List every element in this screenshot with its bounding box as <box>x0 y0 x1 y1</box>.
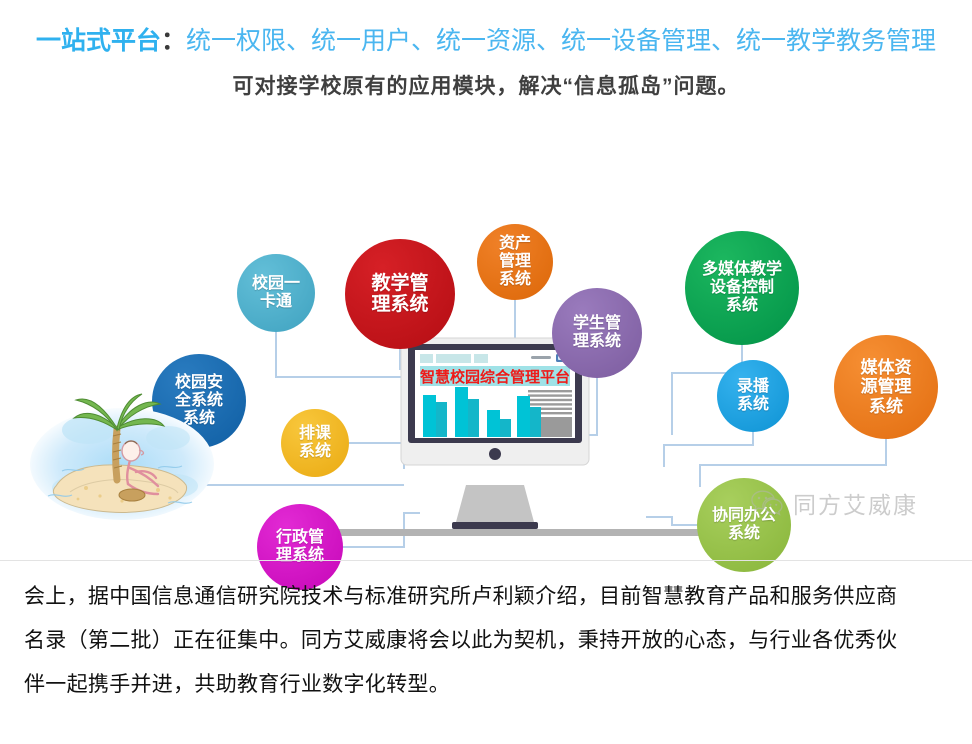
bubble-label-asset-mgmt: 资产管理系统 <box>495 235 535 289</box>
article-paragraph: 会上，据中国信息通信研究院技术与标准研究所卢利颖介绍，目前智慧教育产品和服务供应… <box>24 574 954 706</box>
bubble-label-multimedia-control: 多媒体教学设备控制系统 <box>698 261 786 315</box>
bubble-multimedia-control[interactable]: 多媒体教学设备控制系统 <box>685 231 799 345</box>
bubble-label-student-mgmt: 学生管理系统 <box>569 315 625 351</box>
paragraph-line-2: 名录（第二批）正在征集中。同方艾威康将会以此为契机，秉持开放的心态，与行业各优秀… <box>24 618 954 662</box>
screen-title-text: 智慧校园综合管理平台 <box>420 366 570 387</box>
bubble-recording-system[interactable]: 录播系统 <box>717 360 789 432</box>
headline-subline: 可对接学校原有的应用模块，解决“信息孤岛”问题。 <box>0 70 972 100</box>
headline-keyword: 一站式平台 <box>36 27 161 55</box>
bubble-course-schedule[interactable]: 排课系统 <box>281 409 349 477</box>
screen-title: 智慧校园综合管理平台 <box>420 366 570 386</box>
paragraph-line-1: 会上，据中国信息通信研究院技术与标准研究所卢利颖介绍，目前智慧教育产品和服务供应… <box>24 574 954 618</box>
bubble-campus-card[interactable]: 校园一卡通 <box>237 254 315 332</box>
brand-watermark: 同方艾威康 <box>750 486 918 520</box>
wechat-icon <box>750 489 784 517</box>
headline-primary: 一站式平台：统一权限、统一用户、统一资源、统一设备管理、统一教学教务管理 <box>0 26 972 56</box>
bubble-student-mgmt[interactable]: 学生管理系统 <box>552 288 642 378</box>
bubble-label-recording-system: 录播系统 <box>733 378 773 414</box>
headline-block: 一站式平台：统一权限、统一用户、统一资源、统一设备管理、统一教学教务管理 可对接… <box>0 26 972 100</box>
paragraph-line-3: 伴一起携手并进，共助教育行业数字化转型。 <box>24 662 954 706</box>
bubble-asset-mgmt[interactable]: 资产管理系统 <box>477 224 553 300</box>
bubble-label-campus-card: 校园一卡通 <box>248 275 304 311</box>
bubble-label-media-resource: 媒体资源管理系统 <box>857 358 916 415</box>
headline-detail: 统一权限、统一用户、统一资源、统一设备管理、统一教学教务管理 <box>186 27 936 55</box>
headline-colon: ： <box>161 27 186 55</box>
bubble-label-course-schedule: 排课系统 <box>295 425 335 461</box>
bubble-media-resource[interactable]: 媒体资源管理系统 <box>834 335 938 439</box>
brand-name: 同方艾威康 <box>793 486 918 520</box>
information-island-illustration <box>18 368 223 543</box>
bubble-teaching-mgmt[interactable]: 教学管理系统 <box>345 239 455 349</box>
bubble-label-teaching-mgmt: 教学管理系统 <box>367 273 432 316</box>
section-divider <box>0 560 972 561</box>
